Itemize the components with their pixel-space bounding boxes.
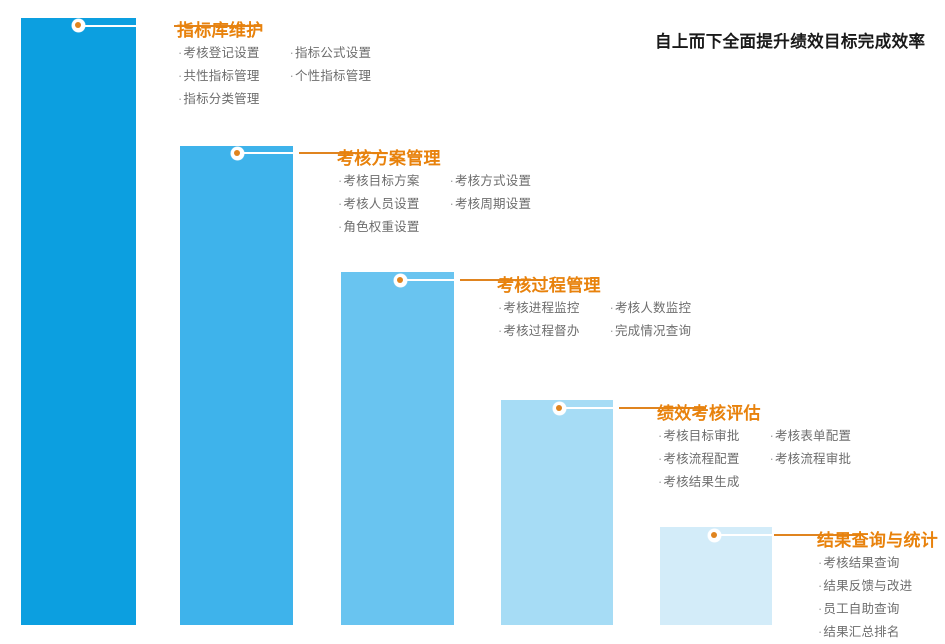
list-item[interactable]: ·指标分类管理 <box>178 88 260 111</box>
stage-marker-dot-3[interactable] <box>394 274 407 287</box>
list-item[interactable]: ·考核流程审批 <box>770 448 852 471</box>
bullet-icon: · <box>658 475 662 489</box>
list-item[interactable]: ·考核结果查询 <box>818 552 912 575</box>
bullet-icon: · <box>818 625 822 639</box>
list-item[interactable]: ·考核过程督办 <box>498 320 580 343</box>
stage-items-column: ·考核目标方案 ·考核人员设置 ·角色权重设置 <box>338 170 420 239</box>
list-item-label: 考核流程配置 <box>663 452 739 466</box>
bullet-icon: · <box>338 174 342 188</box>
bullet-icon: · <box>498 324 502 338</box>
list-item[interactable]: ·考核进程监控 <box>498 297 580 320</box>
stage-items-3: ·考核进程监控 ·考核过程督办 ·考核人数监控 ·完成情况查询 <box>498 297 691 343</box>
list-item-label: 指标公式设置 <box>295 46 371 60</box>
list-item[interactable]: ·考核目标审批 <box>658 425 740 448</box>
list-item-label: 考核目标审批 <box>663 429 739 443</box>
stage-items-column: ·考核进程监控 ·考核过程督办 <box>498 297 580 343</box>
list-item-label: 共性指标管理 <box>183 69 259 83</box>
page-title: 自上而下全面提升绩效目标完成效率 <box>655 28 925 52</box>
stage-items-column: ·考核表单配置 ·考核流程审批 <box>770 425 852 494</box>
list-item-label: 考核方式设置 <box>455 174 531 188</box>
list-item-label: 考核结果生成 <box>663 475 739 489</box>
stage-marker-dot-4[interactable] <box>553 402 566 415</box>
list-item[interactable]: ·完成情况查询 <box>610 320 692 343</box>
list-item[interactable]: ·考核结果生成 <box>658 471 740 494</box>
bullet-icon: · <box>338 197 342 211</box>
list-item-label: 考核结果查询 <box>823 556 899 570</box>
list-item[interactable]: ·考核表单配置 <box>770 425 852 448</box>
list-item[interactable]: ·共性指标管理 <box>178 65 260 88</box>
list-item[interactable]: ·员工自助查询 <box>818 598 912 621</box>
list-item-label: 指标分类管理 <box>183 92 259 106</box>
list-item[interactable]: ·指标公式设置 <box>290 42 372 65</box>
list-item[interactable]: ·个性指标管理 <box>290 65 372 88</box>
list-item[interactable]: ·考核目标方案 <box>338 170 420 193</box>
stage-items-5: ·考核结果查询 ·结果反馈与改进 ·员工自助查询 ·结果汇总排名 <box>818 552 912 644</box>
list-item-label: 员工自助查询 <box>823 602 899 616</box>
bullet-icon: · <box>290 69 294 83</box>
list-item-label: 考核人数监控 <box>615 301 691 315</box>
stage-items-column: ·考核人数监控 ·完成情况查询 <box>610 297 692 343</box>
stage-bar-1[interactable] <box>21 18 136 625</box>
list-item-label: 考核登记设置 <box>183 46 259 60</box>
bullet-icon: · <box>610 324 614 338</box>
bullet-icon: · <box>818 556 822 570</box>
bullet-icon: · <box>770 429 774 443</box>
stage-bar-3[interactable] <box>341 272 454 625</box>
bullet-icon: · <box>610 301 614 315</box>
bullet-icon: · <box>818 602 822 616</box>
bullet-icon: · <box>450 197 454 211</box>
list-item-label: 考核流程审批 <box>775 452 851 466</box>
stage-items-2: ·考核目标方案 ·考核人员设置 ·角色权重设置 ·考核方式设置 ·考核周期设置 <box>338 170 531 239</box>
bullet-icon: · <box>818 579 822 593</box>
list-item[interactable]: ·角色权重设置 <box>338 216 420 239</box>
stage-items-column: ·指标公式设置 ·个性指标管理 <box>290 42 372 111</box>
stage-items-column: ·考核结果查询 ·结果反馈与改进 ·员工自助查询 ·结果汇总排名 <box>818 552 912 644</box>
list-item[interactable]: ·考核流程配置 <box>658 448 740 471</box>
stage-items-column: ·考核登记设置 ·共性指标管理 ·指标分类管理 <box>178 42 260 111</box>
bullet-icon: · <box>450 174 454 188</box>
list-item-label: 结果汇总排名 <box>823 625 899 639</box>
stage-items-column: ·考核方式设置 ·考核周期设置 <box>450 170 532 239</box>
stage-title-4: 绩效考核评估 <box>657 399 761 424</box>
stage-items-4: ·考核目标审批 ·考核流程配置 ·考核结果生成 ·考核表单配置 ·考核流程审批 <box>658 425 851 494</box>
list-item-label: 结果反馈与改进 <box>823 579 912 593</box>
list-item[interactable]: ·考核方式设置 <box>450 170 532 193</box>
bullet-icon: · <box>290 46 294 60</box>
stage-marker-dot-5[interactable] <box>708 529 721 542</box>
connector-segment-white <box>559 407 619 409</box>
list-item-label: 考核周期设置 <box>455 197 531 211</box>
list-item[interactable]: ·考核周期设置 <box>450 193 532 216</box>
list-item[interactable]: ·考核人数监控 <box>610 297 692 320</box>
bullet-icon: · <box>338 220 342 234</box>
list-item[interactable]: ·考核登记设置 <box>178 42 260 65</box>
list-item-label: 考核人员设置 <box>343 197 419 211</box>
stage-bar-2[interactable] <box>180 146 293 625</box>
bullet-icon: · <box>178 69 182 83</box>
stage-items-column: ·考核目标审批 ·考核流程配置 ·考核结果生成 <box>658 425 740 494</box>
list-item-label: 考核过程督办 <box>503 324 579 338</box>
bullet-icon: · <box>658 452 662 466</box>
list-item-label: 考核目标方案 <box>343 174 419 188</box>
list-item-label: 完成情况查询 <box>615 324 691 338</box>
list-item-label: 角色权重设置 <box>343 220 419 234</box>
stage-marker-dot-2[interactable] <box>231 147 244 160</box>
stage-items-1: ·考核登记设置 ·共性指标管理 ·指标分类管理 ·指标公式设置 ·个性指标管理 <box>178 42 371 111</box>
bullet-icon: · <box>770 452 774 466</box>
list-item[interactable]: ·结果反馈与改进 <box>818 575 912 598</box>
stage-marker-dot-1[interactable] <box>72 19 85 32</box>
stage-bar-5[interactable] <box>660 527 772 625</box>
bullet-icon: · <box>178 46 182 60</box>
list-item-label: 考核进程监控 <box>503 301 579 315</box>
connector-segment-white <box>78 25 174 27</box>
list-item-label: 考核表单配置 <box>775 429 851 443</box>
stage-title-1: 指标库维护 <box>177 16 264 41</box>
bullet-icon: · <box>658 429 662 443</box>
stage-title-5: 结果查询与统计 <box>817 526 938 551</box>
list-item[interactable]: ·结果汇总排名 <box>818 621 912 644</box>
stage-title-3: 考核过程管理 <box>497 271 601 296</box>
bullet-icon: · <box>498 301 502 315</box>
connector-segment-white <box>237 152 299 154</box>
stage-title-2: 考核方案管理 <box>337 144 441 169</box>
list-item[interactable]: ·考核人员设置 <box>338 193 420 216</box>
bullet-icon: · <box>178 92 182 106</box>
stage-bar-4[interactable] <box>501 400 613 625</box>
connector-segment-white <box>400 279 460 281</box>
list-item-label: 个性指标管理 <box>295 69 371 83</box>
connector-segment-white <box>714 534 774 536</box>
funnel-diagram: 自上而下全面提升绩效目标完成效率 指标库维护 ·考核登记设置 ·共性指标管理 ·… <box>0 0 945 643</box>
